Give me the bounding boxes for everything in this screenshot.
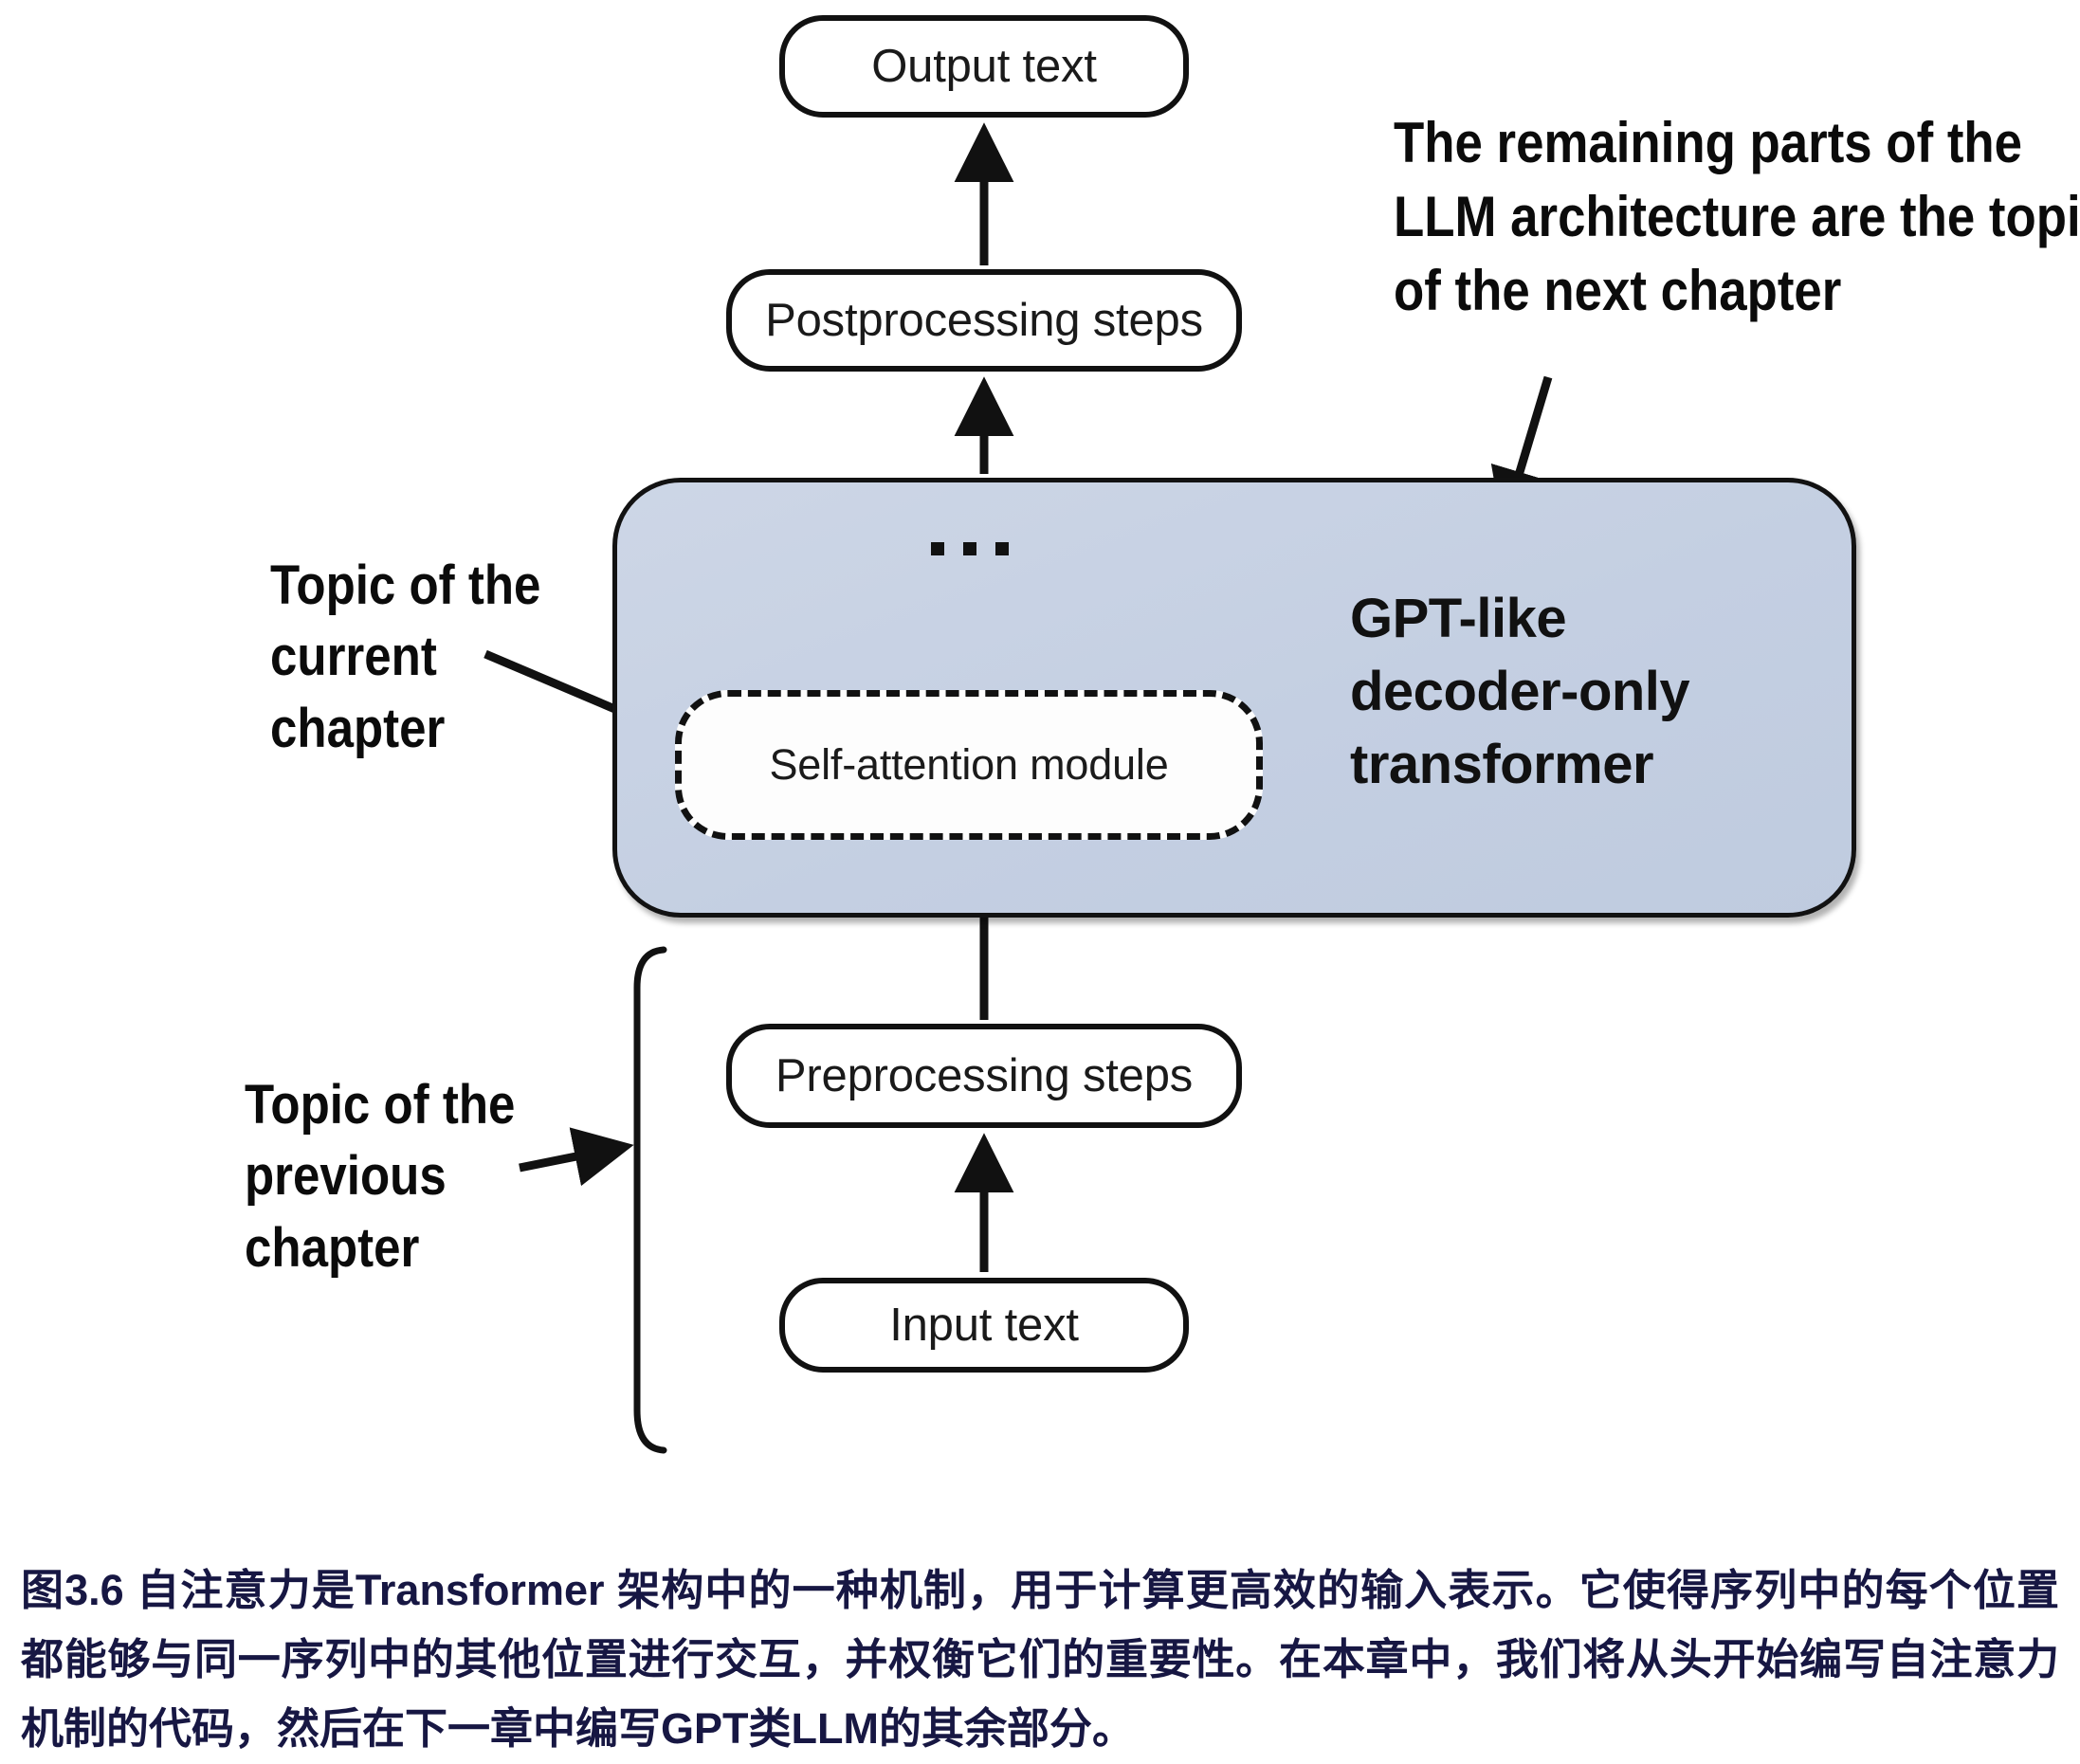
annotation-previous-chapter: Topic of the previous chapter <box>245 1069 595 1283</box>
node-postprocessing-steps: Postprocessing steps <box>726 269 1242 372</box>
node-self-attention-module: Self-attention module <box>675 690 1263 840</box>
preprocessing-bracket <box>637 950 664 1450</box>
figure-canvas: GPT-like decoder-only transformer Output… <box>0 0 2080 1731</box>
ellipsis-dot <box>995 542 1009 555</box>
ellipsis-dot <box>931 542 944 555</box>
node-preprocessing-steps: Preprocessing steps <box>726 1024 1242 1128</box>
node-output-text: Output text <box>779 15 1189 118</box>
annotation-next-chapter: The remaining parts of the LLM architect… <box>1394 106 2080 328</box>
ellipsis-dot <box>963 542 976 555</box>
figure-caption: 图3.6 自注意力是Transformer 架构中的一种机制，用于计算更高效的输… <box>21 1556 2059 1764</box>
ellipsis-dots <box>931 542 1009 555</box>
transformer-container-label: GPT-like decoder-only transformer <box>1350 582 1805 801</box>
node-input-text: Input text <box>779 1278 1189 1373</box>
annotation-current-chapter: Topic of the current chapter <box>270 550 621 764</box>
